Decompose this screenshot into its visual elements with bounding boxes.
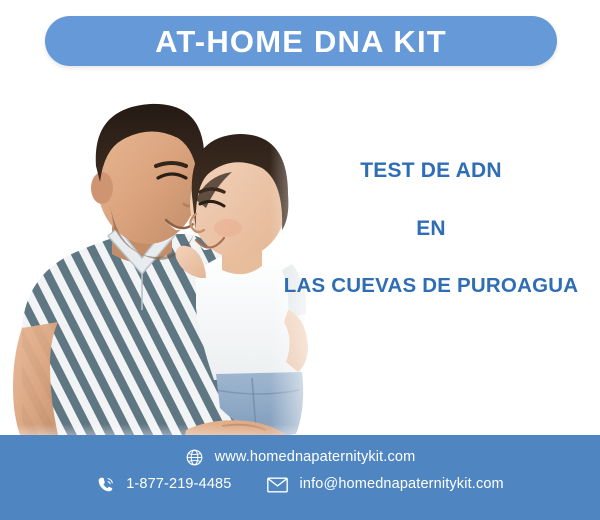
footer-row-website: www.homednapaternitykit.com [0, 448, 600, 467]
header-band: AT-HOME DNA KIT [0, 0, 600, 80]
phone-text: 1-877-219-4485 [126, 477, 231, 492]
phone-icon [96, 475, 115, 494]
contact-email[interactable]: info@homednapaternitykit.com [267, 477, 503, 493]
contact-phone[interactable]: 1-877-219-4485 [96, 475, 231, 494]
title-pill: AT-HOME DNA KIT [45, 16, 557, 66]
website-text: www.homednapaternitykit.com [215, 450, 416, 465]
email-text: info@homednapaternitykit.com [299, 477, 503, 492]
footer-contact-bar: www.homednapaternitykit.com 1-877-219-44… [0, 435, 600, 520]
globe-icon [185, 448, 204, 467]
contact-website[interactable]: www.homednapaternitykit.com [185, 448, 416, 467]
headline-block: TEST DE ADN EN LAS CUEVAS DE PUROAGUA [262, 160, 600, 297]
headline-line-3: LAS CUEVAS DE PUROAGUA [262, 276, 600, 297]
headline-line-2: EN [262, 218, 600, 239]
envelope-icon [267, 477, 288, 493]
page-title: AT-HOME DNA KIT [155, 26, 447, 57]
footer-row-phone-email: 1-877-219-4485 info@homednapaternitykit.… [0, 475, 600, 494]
headline-line-1: TEST DE ADN [262, 160, 600, 181]
poster-root: AT-HOME DNA KIT [0, 0, 600, 520]
